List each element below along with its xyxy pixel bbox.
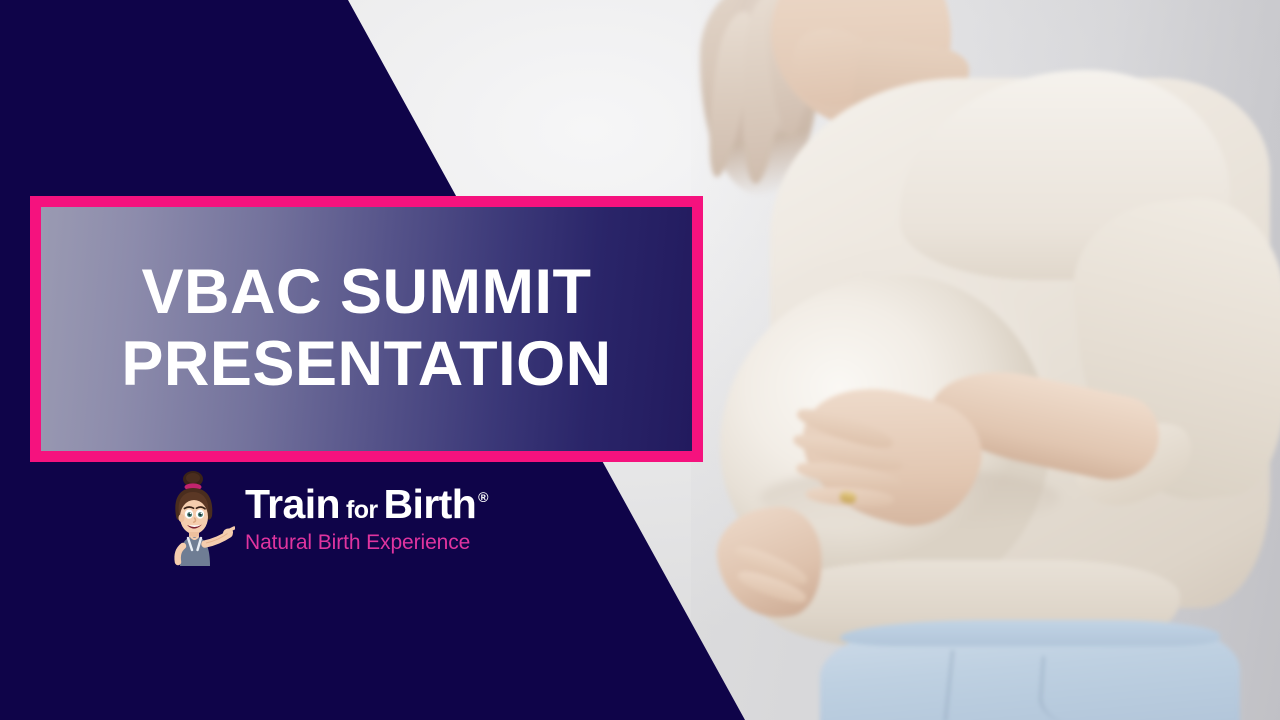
registered-trademark-icon: ® <box>478 490 488 504</box>
brand-logo: Train for Birth ® Natural Birth Experien… <box>163 468 533 568</box>
brand-word-birth: Birth <box>384 484 477 525</box>
jeans-waistband <box>840 620 1220 646</box>
brand-tagline: Natural Birth Experience <box>245 532 488 553</box>
logo-wordmark: Train for Birth ® Natural Birth Experien… <box>245 484 488 553</box>
brand-word-for: for <box>346 498 378 523</box>
brand-word-train: Train <box>245 484 340 525</box>
title-box-gradient: VBAC SUMMIT PRESENTATION <box>41 207 692 451</box>
title-line-1: VBAC SUMMIT <box>142 257 592 329</box>
presentation-slide: VBAC SUMMIT PRESENTATION <box>0 0 1280 720</box>
avatar-icon <box>163 470 235 566</box>
brand-name: Train for Birth ® <box>245 484 488 525</box>
title-line-2: PRESENTATION <box>121 329 611 401</box>
jeans-pocket <box>1038 656 1152 720</box>
title-box: VBAC SUMMIT PRESENTATION <box>30 196 703 462</box>
